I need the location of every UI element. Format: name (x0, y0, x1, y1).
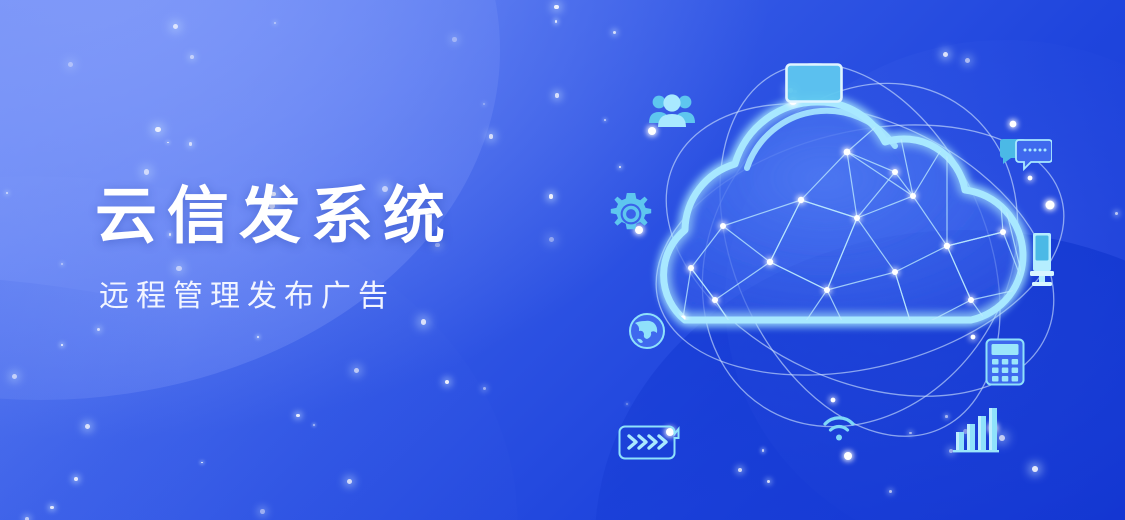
chevrons-forward-icon[interactable] (617, 424, 685, 470)
star-dot (445, 380, 449, 384)
star-dot (549, 237, 555, 243)
page-subtitle: 远程管理发布广告 (99, 282, 455, 312)
star-dot (201, 462, 203, 464)
chat-bubbles-icon[interactable] (1000, 138, 1052, 172)
star-dot (555, 93, 560, 98)
globe-icon[interactable] (628, 312, 666, 350)
star-dot (296, 414, 300, 418)
star-dot (61, 344, 63, 346)
star-dot (274, 22, 276, 24)
star-dot (68, 62, 73, 67)
star-dot (144, 169, 150, 175)
calculator-icon[interactable] (985, 338, 1025, 386)
headline-block: 云信发系统 远程管理发布广告 (95, 186, 455, 312)
star-dot (483, 103, 485, 105)
star-dot (257, 336, 259, 338)
background-swoosh-left-curve (0, 109, 568, 520)
gear-icon[interactable] (610, 193, 652, 235)
star-dot (50, 506, 53, 509)
users-group-icon[interactable] (648, 92, 696, 128)
star-dot (189, 142, 192, 145)
star-dot (74, 477, 78, 481)
bar-chart-icon[interactable] (953, 406, 999, 454)
star-dot (347, 479, 352, 484)
page-title: 云信发系统 (95, 186, 455, 248)
star-dot (85, 424, 90, 429)
star-dot (489, 134, 494, 139)
star-dot (6, 192, 8, 194)
star-dot (421, 319, 427, 325)
star-dot (483, 387, 486, 390)
star-dot (155, 127, 161, 133)
star-dot (190, 55, 194, 59)
star-dot (452, 37, 457, 42)
cloud-shape (664, 102, 1023, 320)
star-dot (313, 424, 315, 426)
star-dot (555, 20, 558, 23)
star-dot (61, 263, 63, 265)
promo-banner: 云信发系统 远程管理发布广告 (0, 0, 1125, 520)
star-dot (97, 328, 100, 331)
digital-signage-icon[interactable] (1030, 233, 1056, 289)
star-dot (354, 368, 359, 373)
wifi-icon[interactable] (822, 414, 856, 442)
display-screen-icon[interactable] (784, 62, 844, 104)
star-dot (260, 509, 265, 514)
star-dot (549, 194, 554, 199)
star-dot (554, 5, 559, 10)
star-dot (167, 142, 169, 144)
star-dot (12, 374, 17, 379)
star-dot (173, 24, 179, 30)
